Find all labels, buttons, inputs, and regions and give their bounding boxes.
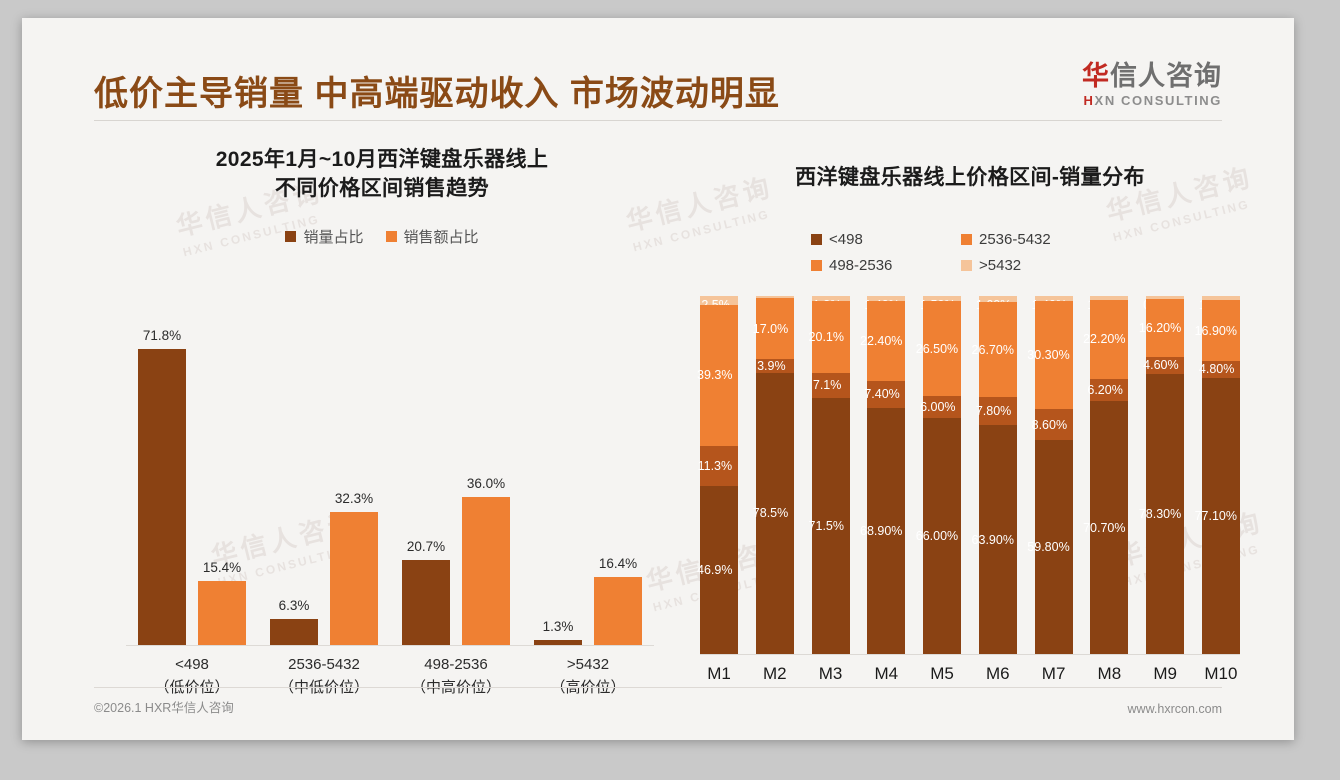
footer-copyright: ©2026.1 HXR华信人咨询 (94, 697, 234, 716)
stacked-segment[interactable]: 78.30% (1146, 374, 1184, 654)
stacked-column[interactable]: 2.5%39.3%11.3%46.9% (700, 296, 738, 654)
bar-value-label: 15.4% (203, 560, 241, 575)
legend-label: 2536-5432 (979, 231, 1051, 248)
legend-label: 498-2536 (829, 257, 892, 274)
legend-item-498-2536[interactable]: 498-2536 (811, 257, 961, 274)
x-axis-category-labels: <498 （低价位） 2536-5432 （中低价位） 498-2536 （中高… (126, 654, 654, 699)
stacked-segment[interactable]: 59.80% (1035, 440, 1073, 654)
bar-value[interactable]: 36.0% (462, 497, 510, 646)
stacked-segment[interactable]: 2.5% (700, 296, 738, 305)
stacked-segment[interactable]: 4.80% (1202, 361, 1240, 378)
bar-value-label: 6.3% (279, 598, 310, 613)
stacked-column[interactable]: 1.00%22.20%6.20%70.70% (1090, 296, 1128, 654)
segment-value-label: 17.0% (753, 322, 788, 336)
legend-label: >5432 (979, 257, 1021, 274)
right-chart-title-line1: 西洋键盘乐器线上价格区间-销量分布 (690, 164, 1250, 193)
stacked-segment[interactable]: 20.1% (812, 301, 850, 373)
segment-value-label: 6.00% (920, 400, 955, 414)
segment-value-label: 7.40% (864, 387, 899, 401)
bar-value-label: 71.8% (143, 328, 181, 343)
segment-value-label: 7.1% (813, 378, 842, 392)
stacked-segment[interactable]: 30.30% (1035, 301, 1073, 409)
segment-value-label: 39.3% (697, 368, 732, 382)
stacked-segment[interactable]: 39.3% (700, 305, 738, 446)
bar-fill (138, 349, 186, 645)
x-axis-month: M8 (1090, 664, 1128, 684)
segment-value-label: 78.30% (1139, 507, 1181, 521)
logo-english: HXN CONSULTING (1082, 93, 1222, 108)
segment-value-label: 71.5% (809, 519, 844, 533)
stacked-segment[interactable]: 63.90% (979, 425, 1017, 654)
bar-group: 6.3% 32.3% (258, 315, 390, 645)
segment-value-label: 7.80% (976, 404, 1011, 418)
segment-value-label: 22.20% (1083, 332, 1125, 346)
bar-value[interactable]: 15.4% (198, 581, 246, 645)
logo-english-rest: XN CONSULTING (1095, 93, 1222, 108)
stacked-segment[interactable]: 17.0% (756, 298, 794, 359)
segment-value-label: 22.40% (860, 334, 902, 348)
segment-value-label: 16.90% (1195, 324, 1237, 338)
stacked-segment[interactable]: 70.70% (1090, 401, 1128, 654)
stacked-segment[interactable]: 7.80% (979, 397, 1017, 425)
bar-fill (534, 640, 582, 645)
x-axis-month: M6 (979, 664, 1017, 684)
bar-value-label: 32.3% (335, 491, 373, 506)
segment-value-label: 46.9% (697, 563, 732, 577)
bar-value-label: 20.7% (407, 539, 445, 554)
stacked-column[interactable]: 1.50%26.50%6.00%66.00% (923, 296, 961, 654)
x-axis-month: M7 (1035, 664, 1073, 684)
bar-volume[interactable]: 6.3% (270, 619, 318, 645)
segment-value-label: 66.00% (916, 529, 958, 543)
logo-chinese-rest: 信人咨询 (1110, 61, 1222, 91)
category-name: 2536-5432 (258, 654, 390, 677)
x-axis-month: M5 (923, 664, 961, 684)
legend-swatch (961, 234, 972, 245)
stacked-segment[interactable]: 22.40% (867, 301, 905, 381)
x-axis-category: >5432 （高价位） (522, 654, 654, 699)
stacked-bar-plot-area: 2.5%39.3%11.3%46.9%0.6%17.0%3.9%78.5%1.3… (700, 296, 1240, 654)
footer-website[interactable]: www.hxrcon.com (1128, 702, 1222, 716)
left-chart-title-line1: 2025年1月~10月西洋键盘乐器线上 (82, 146, 682, 175)
x-axis-category: <498 （低价位） (126, 654, 258, 699)
stacked-segment[interactable]: 3.9% (756, 359, 794, 373)
bar-value-label: 36.0% (467, 476, 505, 491)
segment-value-label: 63.90% (972, 533, 1014, 547)
segment-value-label: 26.50% (916, 342, 958, 356)
segment-value-label: 8.60% (1032, 418, 1067, 432)
stacked-segment[interactable]: 77.10% (1202, 378, 1240, 654)
x-axis-month: M9 (1146, 664, 1184, 684)
segment-value-label: 11.3% (698, 459, 733, 473)
stacked-segment[interactable]: 16.20% (1146, 299, 1184, 357)
segment-value-label: 70.70% (1083, 521, 1125, 535)
bar-fill (594, 577, 642, 645)
bar-value-label: 1.3% (543, 619, 574, 634)
footer-divider (94, 687, 1222, 688)
category-name: 498-2536 (390, 654, 522, 677)
stacked-segment[interactable]: 6.00% (923, 396, 961, 417)
stacked-segment[interactable]: 78.5% (756, 373, 794, 654)
stacked-column[interactable]: 1.20%16.90%4.80%77.10% (1202, 296, 1240, 654)
stacked-bar-chart: 2.5%39.3%11.3%46.9%0.6%17.0%3.9%78.5%1.3… (700, 296, 1240, 696)
bar-fill (402, 560, 450, 645)
stacked-segment[interactable]: 7.1% (812, 373, 850, 398)
bar-value[interactable]: 16.4% (594, 577, 642, 645)
segment-value-label: 26.70% (972, 343, 1014, 357)
bar-volume[interactable]: 20.7% (402, 560, 450, 645)
logo-chinese-first-char: 华 (1082, 61, 1110, 91)
stacked-column[interactable]: 0.90%16.20%4.60%78.30% (1146, 296, 1184, 654)
bar-volume[interactable]: 71.8% (138, 349, 186, 645)
segment-value-label: 68.90% (860, 524, 902, 538)
right-chart-title: 西洋键盘乐器线上价格区间-销量分布 (690, 146, 1250, 193)
stacked-column[interactable]: 1.40%30.30%8.60%59.80% (1035, 296, 1073, 654)
x-axis-month-labels: M1M2M3M4M5M6M7M8M9M10 (700, 664, 1240, 684)
bar-value-label: 16.4% (599, 556, 637, 571)
legend-item-sales-volume[interactable]: 销量占比 (285, 226, 363, 247)
stacked-segment[interactable]: 7.40% (867, 381, 905, 407)
x-axis-line (126, 645, 654, 646)
x-axis-month: M10 (1202, 664, 1240, 684)
bar-fill (198, 581, 246, 645)
stacked-column[interactable]: 1.3%20.1%7.1%71.5% (812, 296, 850, 654)
right-chart-panel: 西洋键盘乐器线上价格区间-销量分布 <498 2536-5432 498-253… (690, 146, 1250, 706)
legend-swatch (285, 231, 296, 242)
stacked-segment[interactable]: 68.90% (867, 408, 905, 654)
right-chart-legend: <498 2536-5432 498-2536 >5432 (811, 231, 1129, 274)
page-title: 低价主导销量 中高端驱动收入 市场波动明显 (94, 66, 780, 115)
stacked-segment[interactable]: 6.20% (1090, 379, 1128, 401)
segment-value-label: 4.60% (1143, 358, 1178, 372)
bar-group: 20.7% 36.0% (390, 315, 522, 645)
segment-value-label: 4.80% (1199, 362, 1234, 376)
bar-volume[interactable]: 1.3% (534, 640, 582, 645)
x-axis-line (700, 654, 1240, 655)
legend-swatch (811, 234, 822, 245)
bar-fill (330, 512, 378, 645)
stacked-segment[interactable]: 71.5% (812, 398, 850, 654)
category-name: >5432 (522, 654, 654, 677)
legend-item-2536-5432[interactable]: 2536-5432 (961, 231, 1129, 248)
legend-item-under-498[interactable]: <498 (811, 231, 961, 248)
legend-swatch (811, 260, 822, 271)
x-axis-month: M4 (867, 664, 905, 684)
segment-value-label: 78.5% (753, 506, 788, 520)
bar-group: 1.3% 16.4% (522, 315, 654, 645)
legend-swatch (386, 231, 397, 242)
logo-chinese: 华信人咨询 (1082, 62, 1222, 90)
logo-english-first-char: H (1084, 93, 1095, 108)
stacked-segment[interactable]: 26.50% (923, 301, 961, 396)
legend-label: 销售额占比 (404, 226, 479, 247)
segment-value-label: 59.80% (1027, 540, 1069, 554)
category-name: <498 (126, 654, 258, 677)
stacked-segment[interactable]: 26.70% (979, 302, 1017, 398)
segment-value-label: 30.30% (1027, 348, 1069, 362)
left-chart-title: 2025年1月~10月西洋键盘乐器线上 不同价格区间销售趋势 (82, 146, 682, 204)
stacked-column[interactable]: 1.40%22.40%7.40%68.90% (867, 296, 905, 654)
legend-swatch (961, 260, 972, 271)
bar-fill (462, 497, 510, 646)
stacked-segment[interactable]: 46.9% (700, 486, 738, 654)
x-axis-month: M2 (756, 664, 794, 684)
x-axis-month: M1 (700, 664, 738, 684)
slide-canvas: 低价主导销量 中高端驱动收入 市场波动明显 华信人咨询 HXN CONSULTI… (22, 18, 1294, 740)
x-axis-category: 2536-5432 （中低价位） (258, 654, 390, 699)
x-axis-month: M3 (812, 664, 850, 684)
left-chart-panel: 2025年1月~10月西洋键盘乐器线上 不同价格区间销售趋势 销量占比 销售额占… (82, 146, 682, 706)
stacked-segment[interactable]: 8.60% (1035, 409, 1073, 440)
legend-label: 销量占比 (303, 226, 363, 247)
segment-value-label: 77.10% (1195, 509, 1237, 523)
grouped-bar-plot-area: 71.8% 15.4% 6.3% (126, 306, 654, 646)
stacked-segment[interactable]: 66.00% (923, 418, 961, 654)
stacked-segment[interactable]: 4.60% (1146, 357, 1184, 373)
stacked-segment[interactable]: 22.20% (1090, 300, 1128, 379)
legend-item-sales-value[interactable]: 销售额占比 (386, 226, 479, 247)
stacked-segment[interactable]: 16.90% (1202, 300, 1240, 361)
stacked-column[interactable]: 0.6%17.0%3.9%78.5% (756, 296, 794, 654)
bar-fill (270, 619, 318, 645)
legend-label: <498 (829, 231, 863, 248)
segment-value-label: 16.20% (1139, 321, 1181, 335)
segment-value-label: 3.9% (757, 359, 786, 373)
legend-item-over-5432[interactable]: >5432 (961, 257, 1129, 274)
bar-value[interactable]: 32.3% (330, 512, 378, 645)
header-divider (94, 120, 1222, 121)
slide-page: 低价主导销量 中高端驱动收入 市场波动明显 华信人咨询 HXN CONSULTI… (0, 0, 1340, 780)
company-logo: 华信人咨询 HXN CONSULTING (1082, 62, 1222, 108)
segment-value-label: 6.20% (1087, 383, 1122, 397)
segment-value-label: 20.1% (809, 330, 844, 344)
stacked-segment[interactable]: 11.3% (700, 446, 738, 486)
x-axis-category: 498-2536 （中高价位） (390, 654, 522, 699)
bar-group: 71.8% 15.4% (126, 315, 258, 645)
left-chart-legend: 销量占比 销售额占比 (82, 226, 682, 247)
stacked-column[interactable]: 1.60%26.70%7.80%63.90% (979, 296, 1017, 654)
grouped-bar-chart: 71.8% 15.4% 6.3% (104, 306, 664, 686)
left-chart-title-line2: 不同价格区间销售趋势 (82, 175, 682, 204)
